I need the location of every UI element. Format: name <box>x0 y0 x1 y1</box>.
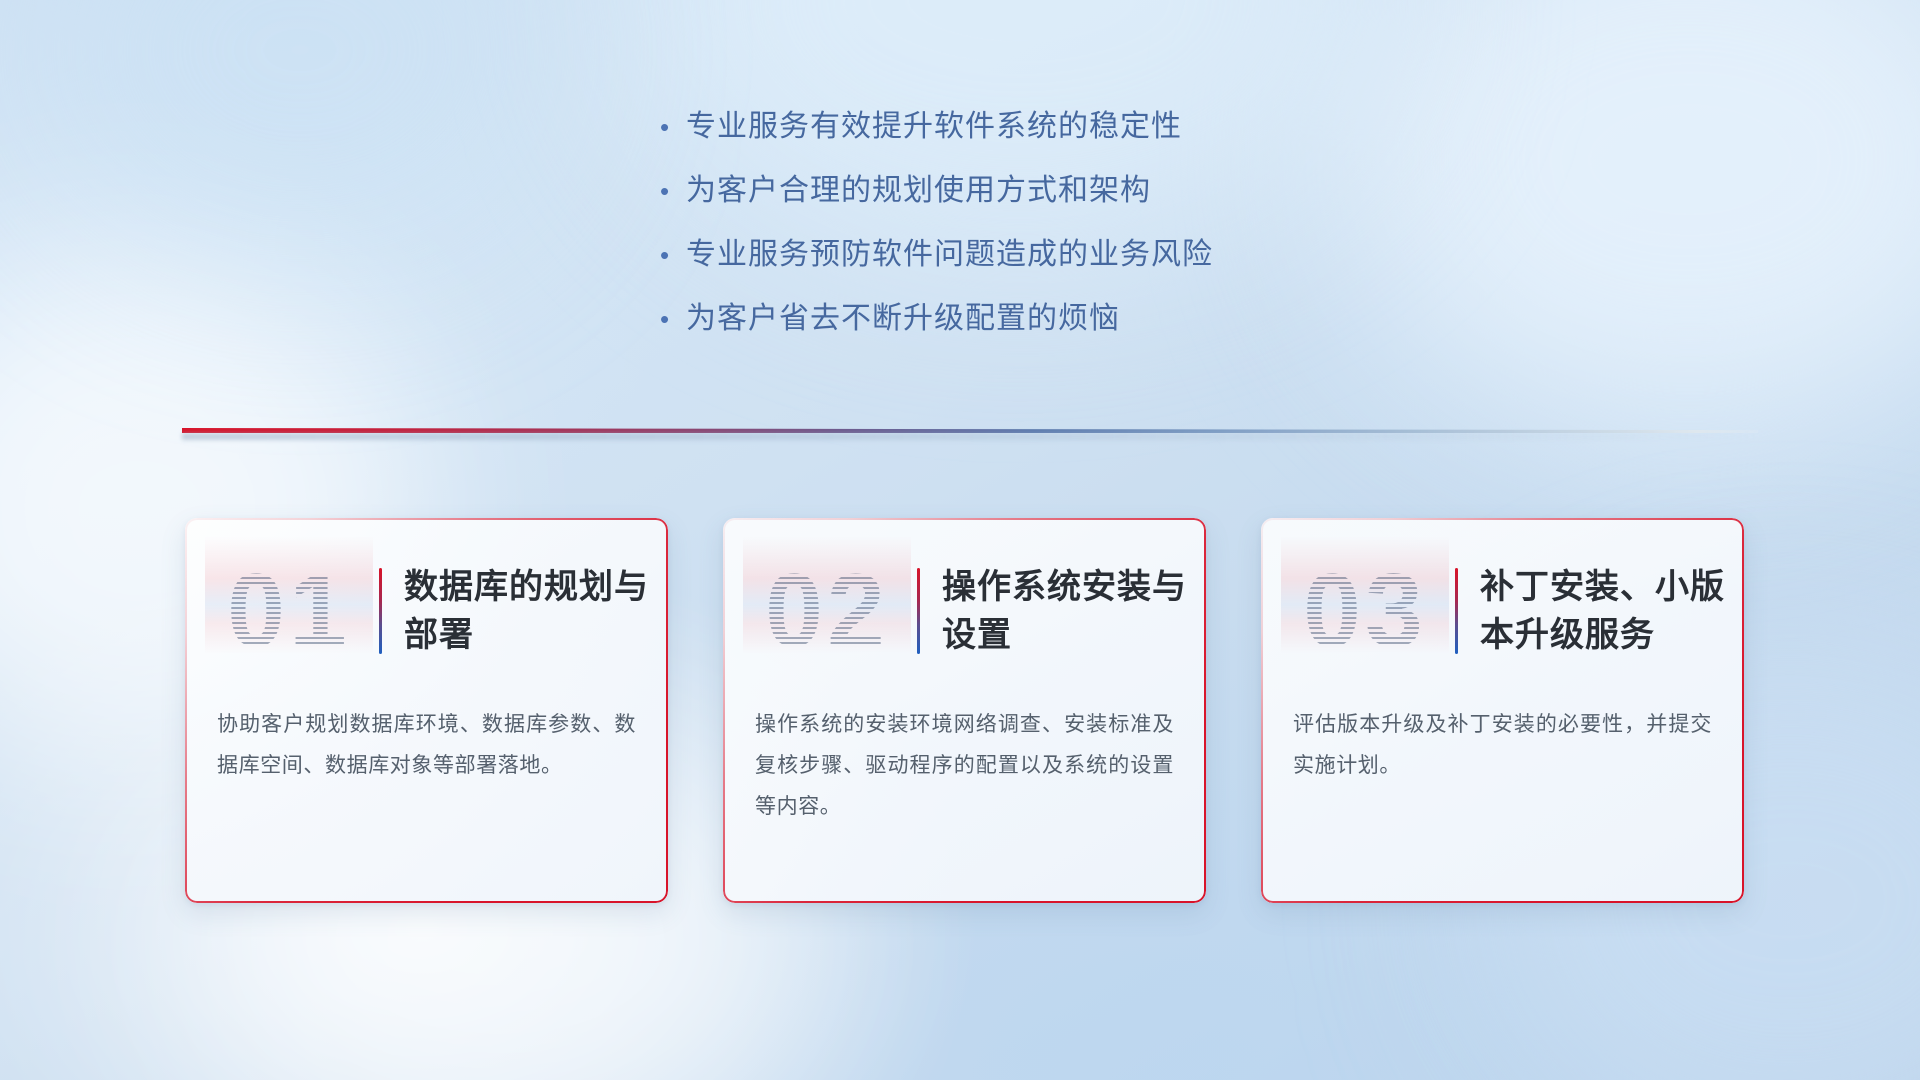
card-number-watermark: 03 <box>1281 552 1449 670</box>
background-glow-top-left <box>40 0 560 260</box>
bullet-text: 专业服务预防软件问题造成的业务风险 <box>686 236 1213 274</box>
card-title: 补丁安装、小版本升级服务 <box>1480 563 1744 659</box>
service-card-03[interactable]: 03 补丁安装、小版本升级服务 评估版本升级及补丁安装的必要性，并提交实施计划。 <box>1261 518 1744 903</box>
slide-canvas: • 专业服务有效提升软件系统的稳定性 • 为客户合理的规划使用方式和架构 • 专… <box>0 0 1920 1080</box>
list-item: • 为客户省去不断升级配置的烦恼 <box>660 300 1440 338</box>
bullet-text: 为客户合理的规划使用方式和架构 <box>686 172 1151 210</box>
card-body-text: 操作系统的安装环境网络调查、安装标准及复核步骤、驱动程序的配置以及系统的设置等内… <box>755 704 1174 827</box>
divider-shadow <box>182 433 1758 440</box>
list-item: • 专业服务预防软件问题造成的业务风险 <box>660 236 1440 274</box>
card-title: 数据库的规划与部署 <box>404 563 668 659</box>
card-accent-bar <box>1455 568 1458 654</box>
bullet-dot-icon: • <box>660 236 686 274</box>
service-card-01[interactable]: 01 数据库的规划与部署 协助客户规划数据库环境、数据库参数、数据库空间、数据库… <box>185 518 668 903</box>
list-item: • 为客户合理的规划使用方式和架构 <box>660 172 1440 210</box>
card-body-text: 协助客户规划数据库环境、数据库参数、数据库空间、数据库对象等部署落地。 <box>217 704 636 786</box>
card-number-watermark: 01 <box>205 552 373 670</box>
bullet-dot-icon: • <box>660 172 686 210</box>
list-item: • 专业服务有效提升软件系统的稳定性 <box>660 108 1440 146</box>
card-accent-bar <box>917 568 920 654</box>
bullet-text: 为客户省去不断升级配置的烦恼 <box>686 300 1120 338</box>
service-card-group: 01 数据库的规划与部署 协助客户规划数据库环境、数据库参数、数据库空间、数据库… <box>185 518 1745 918</box>
card-header: 02 操作系统安装与设置 <box>723 518 1206 686</box>
card-number-watermark: 02 <box>743 552 911 670</box>
bullet-dot-icon: • <box>660 108 686 146</box>
card-header: 03 补丁安装、小版本升级服务 <box>1261 518 1744 686</box>
card-title: 操作系统安装与设置 <box>942 563 1206 659</box>
section-divider <box>182 425 1758 441</box>
bullet-dot-icon: • <box>660 300 686 338</box>
card-header: 01 数据库的规划与部署 <box>185 518 668 686</box>
card-accent-bar <box>379 568 382 654</box>
bullet-text: 专业服务有效提升软件系统的稳定性 <box>686 108 1182 146</box>
service-card-02[interactable]: 02 操作系统安装与设置 操作系统的安装环境网络调查、安装标准及复核步骤、驱动程… <box>723 518 1206 903</box>
benefits-bullet-list: • 专业服务有效提升软件系统的稳定性 • 为客户合理的规划使用方式和架构 • 专… <box>660 108 1440 364</box>
card-body-text: 评估版本升级及补丁安装的必要性，并提交实施计划。 <box>1293 704 1712 786</box>
